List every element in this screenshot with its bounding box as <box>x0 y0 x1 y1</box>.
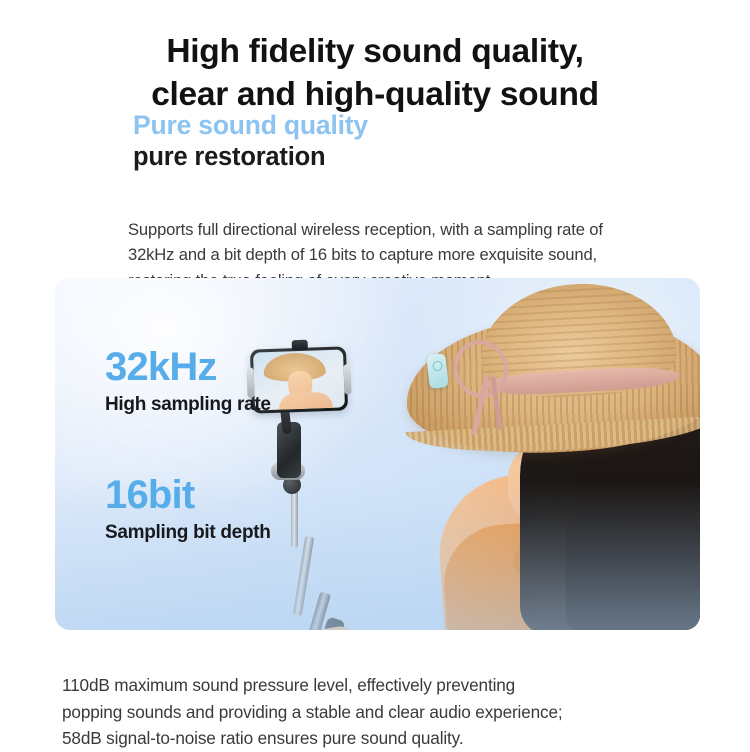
callout-sampling-rate-label: High sampling rate <box>105 393 271 417</box>
headline-line-2: clear and high-quality sound <box>0 73 750 116</box>
page-title: High fidelity sound quality, clear and h… <box>0 30 750 116</box>
intro-line-1: Supports full directional wireless recep… <box>128 217 688 243</box>
callout-sampling-rate: 32kHz High sampling rate <box>105 346 271 417</box>
feature-photo-panel: 32kHz High sampling rate 16bit Sampling … <box>55 278 700 630</box>
outro-line-1: 110dB maximum sound pressure level, effe… <box>62 672 682 699</box>
phone-holder-top-clamp <box>292 340 308 351</box>
headline-line-1: High fidelity sound quality, <box>166 33 583 70</box>
callout-bit-depth-label: Sampling bit depth <box>105 521 271 545</box>
subheading-accent: Pure sound quality <box>133 110 368 141</box>
preview-body <box>278 392 333 410</box>
intro-line-2: 32kHz and a bit depth of 16 bits to capt… <box>128 242 688 268</box>
outro-line-2: popping sounds and providing a stable an… <box>62 699 682 726</box>
outro-paragraph: 110dB maximum sound pressure level, effe… <box>62 672 682 752</box>
phone-holder-clip-right <box>343 364 351 394</box>
outro-line-3: 58dB signal-to-noise ratio ensures pure … <box>62 725 682 752</box>
subheading-plain: pure restoration <box>133 142 368 173</box>
wireless-microphone-clip <box>426 353 448 389</box>
callout-sampling-rate-value: 32kHz <box>105 346 271 388</box>
subheading-block: Pure sound quality pure restoration <box>133 110 368 173</box>
product-feature-page: High fidelity sound quality, clear and h… <box>0 0 750 750</box>
callout-bit-depth-value: 16bit <box>105 474 271 516</box>
callout-bit-depth: 16bit Sampling bit depth <box>105 474 271 545</box>
microphone-indicator-icon <box>432 360 443 371</box>
